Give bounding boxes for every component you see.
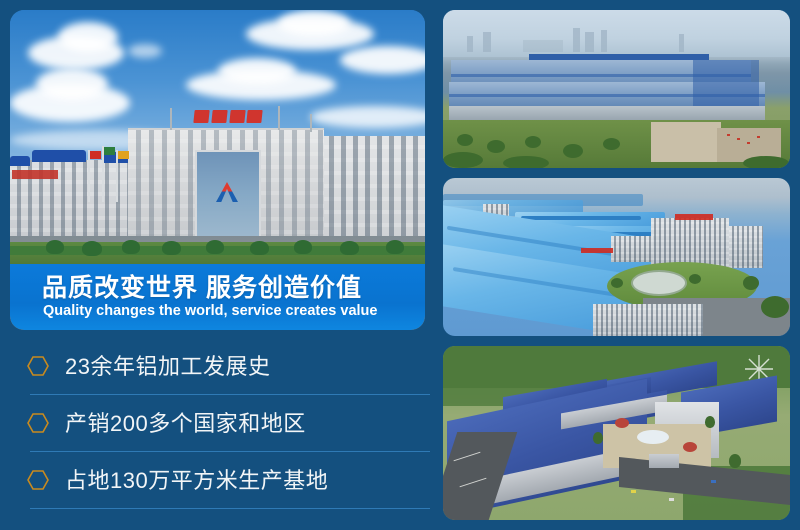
shrub (82, 241, 102, 256)
hexagon-icon (26, 468, 50, 492)
tree (743, 156, 789, 168)
tree (743, 276, 759, 290)
cloud (218, 58, 296, 84)
shrub (46, 240, 64, 254)
right-office-wing (322, 136, 425, 236)
list-divider (30, 508, 430, 509)
cloud (278, 10, 350, 36)
flag (90, 151, 101, 159)
vehicle (747, 142, 750, 144)
list-item-label: 23余年铝加工发展史 (65, 349, 270, 381)
cloud (128, 44, 162, 58)
factory-roof (693, 60, 759, 108)
vehicle (757, 136, 760, 138)
rooftop-sign (675, 214, 713, 220)
fountain (631, 270, 687, 296)
glass-entrance-atrium (195, 150, 261, 240)
tree (761, 296, 789, 318)
company-headquarters-photo: 品质改变世界 服务创造价值 Quality changes the world,… (10, 10, 425, 330)
tree (729, 454, 741, 468)
fountain (637, 430, 669, 444)
industrial-park-rendering (443, 346, 790, 520)
tree (603, 138, 620, 150)
left-column: 品质改变世界 服务创造价值 Quality changes the world,… (10, 10, 430, 520)
cloud (340, 46, 425, 74)
tree (611, 278, 623, 288)
slogan-subtitle-en: Quality changes the world, service creat… (43, 303, 377, 319)
skyline-building (573, 28, 580, 52)
red-signboard (12, 170, 58, 179)
skyline-building (523, 40, 563, 52)
promo-banner-page: 品质改变世界 服务创造价值 Quality changes the world,… (0, 0, 800, 530)
shrub (250, 241, 269, 255)
shrub (386, 240, 404, 254)
shrub (206, 240, 224, 254)
shrub (122, 240, 140, 254)
skyline-building (601, 30, 607, 52)
tree (525, 136, 541, 148)
low-office-block (611, 236, 653, 262)
blue-roof (10, 156, 30, 166)
rooftop-company-name-characters (194, 108, 262, 124)
flag (104, 147, 115, 155)
list-item[interactable]: 占地130万平方米生产基地 (10, 454, 430, 511)
foreground-office-block (593, 304, 703, 336)
parking-yard (651, 122, 721, 162)
hazy-sky (443, 10, 790, 57)
antenna (310, 114, 312, 132)
tree (689, 274, 701, 284)
cloud (36, 68, 108, 100)
red-signboard (581, 248, 613, 253)
tree (563, 144, 583, 158)
skyline-building (483, 32, 491, 52)
skyline-building (679, 34, 684, 52)
tree (503, 156, 549, 168)
shrub (340, 241, 359, 255)
antenna (278, 106, 280, 130)
list-item-label: 产销200多个国家和地区 (65, 406, 306, 438)
blue-roof (32, 150, 86, 162)
hexagon-icon (26, 411, 50, 435)
vehicle (711, 480, 716, 483)
flag (118, 151, 129, 159)
gatehouse (649, 454, 679, 468)
roof-ridge (521, 216, 641, 220)
photo-gallery (443, 10, 790, 520)
list-item[interactable]: 23余年铝加工发展史 (10, 340, 430, 397)
vehicle (727, 134, 730, 136)
list-divider (30, 394, 430, 395)
antenna (170, 108, 172, 130)
vehicle (737, 138, 740, 140)
ornamental-tree (683, 442, 697, 452)
list-item-label: 占地130万平方米生产基地 (65, 463, 328, 495)
tree (593, 432, 603, 444)
list-divider (30, 451, 430, 452)
factory-wall (449, 106, 765, 120)
vehicle (669, 498, 674, 501)
slogan-title-cn: 品质改变世界 服务创造价值 (42, 268, 362, 304)
list-item[interactable]: 产销200多个国家和地区 (10, 397, 430, 454)
cloud (58, 22, 118, 52)
shrub (294, 240, 312, 254)
shrub (162, 241, 181, 255)
skyline-building (585, 32, 594, 52)
skyline-building (467, 36, 473, 52)
aerial-factory-photo-1 (443, 10, 790, 168)
tree (487, 140, 505, 153)
highlights-list: 23余年铝加工发展史 产销200多个国家和地区 占地130万 (10, 340, 430, 511)
office-wing (729, 226, 763, 268)
ornamental-tree (615, 418, 629, 428)
vehicle (631, 490, 636, 493)
slogan-banner: 品质改变世界 服务创造价值 Quality changes the world,… (10, 264, 425, 330)
aerial-factory-photo-2 (443, 178, 790, 336)
tree (443, 152, 483, 168)
tree (457, 134, 473, 146)
hexagon-icon (26, 354, 50, 378)
tree (705, 416, 715, 428)
